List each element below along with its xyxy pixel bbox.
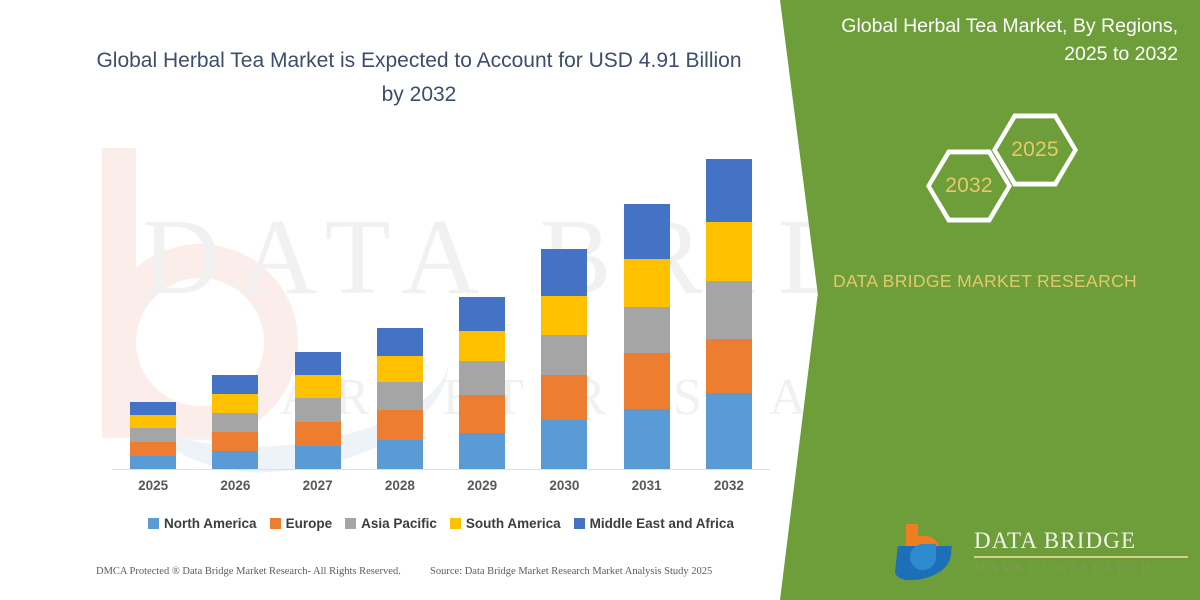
panel-title: Global Herbal Tea Market, By Regions, 20… (826, 12, 1178, 68)
hexagon-2025-label: 2025 (1011, 138, 1059, 162)
x-axis-label-2028: 2028 (377, 478, 423, 498)
bar-2027 (295, 352, 341, 469)
bar-segment (459, 433, 505, 469)
infographic-page: DATA BRIDGE MARKET RESEARCH Global Herba… (0, 0, 1200, 600)
bar-segment (295, 422, 341, 446)
legend-item[interactable]: Asia Pacific (345, 516, 437, 531)
bar-segment (295, 446, 341, 469)
legend-swatch-icon (450, 518, 461, 529)
bar-segment (212, 432, 258, 451)
bar-segment (377, 382, 423, 410)
x-axis-label-2029: 2029 (459, 478, 505, 498)
bar-2030 (541, 249, 587, 469)
chart-plot-area (112, 150, 770, 470)
legend-label: Europe (286, 516, 333, 531)
legend-swatch-icon (148, 518, 159, 529)
bar-segment (541, 249, 587, 296)
bar-2026 (212, 375, 258, 469)
footer-source: Source: Data Bridge Market Research Mark… (430, 566, 712, 577)
x-axis-label-2026: 2026 (212, 478, 258, 498)
x-axis-label-2030: 2030 (541, 478, 587, 498)
bar-segment (212, 375, 258, 394)
legend-swatch-icon (345, 518, 356, 529)
bar-segment (459, 361, 505, 395)
data-bridge-logo: DATA BRIDGE MARKET RESEARCH (890, 522, 1190, 584)
bar-group (112, 150, 770, 469)
bar-segment (706, 281, 752, 340)
x-axis-line (112, 469, 770, 470)
bar-segment (541, 420, 587, 469)
bar-segment (706, 339, 752, 393)
bar-segment (295, 375, 341, 398)
panel-brand-text: DATA BRIDGE MARKET RESEARCH (780, 268, 1200, 294)
x-axis-label-2031: 2031 (624, 478, 670, 498)
data-bridge-mark-icon (890, 524, 962, 580)
bar-segment (541, 296, 587, 336)
logo-subtitle: MARKET RESEARCH (974, 558, 1190, 578)
chart-legend: North AmericaEuropeAsia PacificSouth Ame… (112, 512, 770, 534)
bar-segment (624, 259, 670, 307)
bar-segment (130, 442, 176, 456)
bar-2031 (624, 204, 670, 469)
bar-segment (624, 307, 670, 354)
page-title: Global Herbal Tea Market is Expected to … (92, 44, 746, 112)
bar-segment (130, 428, 176, 442)
hexagon-group: 2032 2025 (780, 118, 1200, 226)
x-axis-label-2025: 2025 (130, 478, 176, 498)
bar-2029 (459, 297, 505, 469)
bar-segment (377, 410, 423, 440)
legend-label: Middle East and Africa (590, 516, 734, 531)
hexagon-2032-label: 2032 (945, 174, 993, 198)
legend-item[interactable]: Middle East and Africa (574, 516, 734, 531)
x-axis-labels: 20252026202720282029203020312032 (112, 478, 770, 498)
legend-item[interactable]: Europe (270, 516, 333, 531)
legend-swatch-icon (574, 518, 585, 529)
logo-wordmark: DATA BRIDGE (974, 528, 1190, 554)
bar-segment (459, 395, 505, 433)
bar-segment (295, 352, 341, 375)
bar-2025 (130, 402, 176, 469)
bar-segment (130, 456, 176, 469)
bar-segment (212, 451, 258, 469)
bar-2028 (377, 328, 423, 469)
bar-segment (130, 402, 176, 415)
bar-segment (624, 409, 670, 469)
footer: DMCA Protected ® Data Bridge Market Rese… (0, 566, 790, 590)
bar-segment (706, 393, 752, 469)
bar-segment (541, 335, 587, 375)
legend-item[interactable]: South America (450, 516, 561, 531)
x-axis-label-2032: 2032 (706, 478, 752, 498)
bar-segment (295, 398, 341, 422)
legend-label: South America (466, 516, 561, 531)
bar-segment (377, 328, 423, 356)
bar-segment (212, 413, 258, 432)
bar-segment (624, 353, 670, 409)
bar-segment (212, 394, 258, 413)
bar-segment (377, 440, 423, 469)
bar-segment (459, 297, 505, 332)
bar-segment (706, 159, 752, 222)
bar-segment (706, 222, 752, 281)
x-axis-label-2027: 2027 (295, 478, 341, 498)
bar-segment (624, 204, 670, 259)
legend-label: North America (164, 516, 257, 531)
legend-swatch-icon (270, 518, 281, 529)
bar-segment (130, 415, 176, 428)
bar-segment (459, 331, 505, 361)
green-side-panel: Global Herbal Tea Market, By Regions, 20… (780, 0, 1200, 600)
hexagon-2025: 2025 (992, 112, 1078, 188)
legend-label: Asia Pacific (361, 516, 437, 531)
bar-2032 (706, 159, 752, 469)
bar-segment (377, 356, 423, 382)
footer-copyright: DMCA Protected ® Data Bridge Market Rese… (96, 566, 401, 577)
bar-segment (541, 375, 587, 420)
legend-item[interactable]: North America (148, 516, 257, 531)
